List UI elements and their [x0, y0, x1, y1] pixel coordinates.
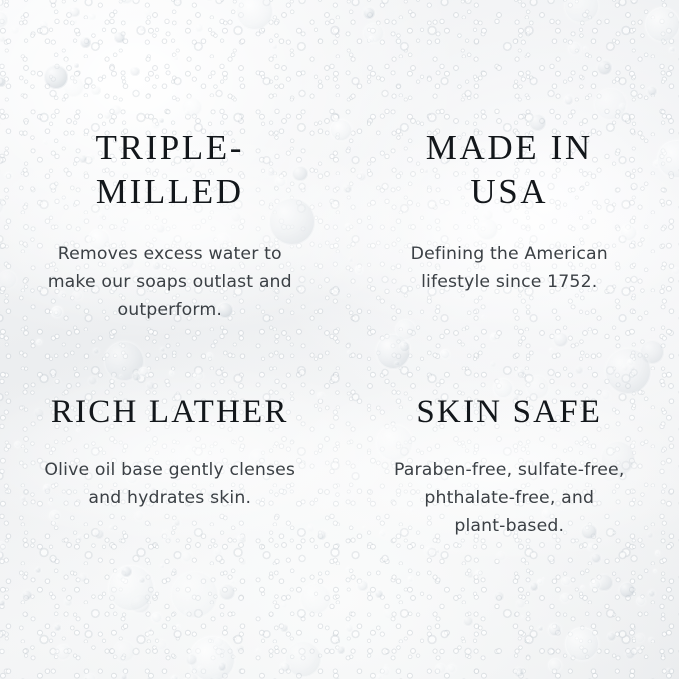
- feature-made-in-usa: MADE IN USA Defining the American lifest…: [340, 0, 679, 340]
- infographic-canvas: TRIPLE- MILLED Removes excess water to m…: [0, 0, 679, 679]
- feature-rich-lather: RICH LATHER Olive oil base gently clense…: [0, 340, 340, 679]
- feature-skin-safe: SKIN SAFE Paraben-free, sulfate-free, ph…: [340, 340, 679, 679]
- feature-title-rich-lather: RICH LATHER: [51, 392, 289, 434]
- feature-description-skin-safe: Paraben-free, sulfate-free, phthalate-fr…: [394, 456, 624, 540]
- feature-grid: TRIPLE- MILLED Removes excess water to m…: [0, 0, 679, 679]
- feature-title-triple-milled: TRIPLE- MILLED: [96, 126, 244, 214]
- feature-description-triple-milled: Removes excess water to make our soaps o…: [48, 240, 292, 324]
- feature-description-rich-lather: Olive oil base gently clenses and hydrat…: [44, 456, 295, 512]
- feature-triple-milled: TRIPLE- MILLED Removes excess water to m…: [0, 0, 340, 340]
- feature-title-made-in-usa: MADE IN USA: [426, 126, 593, 214]
- feature-description-made-in-usa: Defining the American lifestyle since 17…: [411, 240, 608, 296]
- feature-title-skin-safe: SKIN SAFE: [416, 392, 602, 434]
